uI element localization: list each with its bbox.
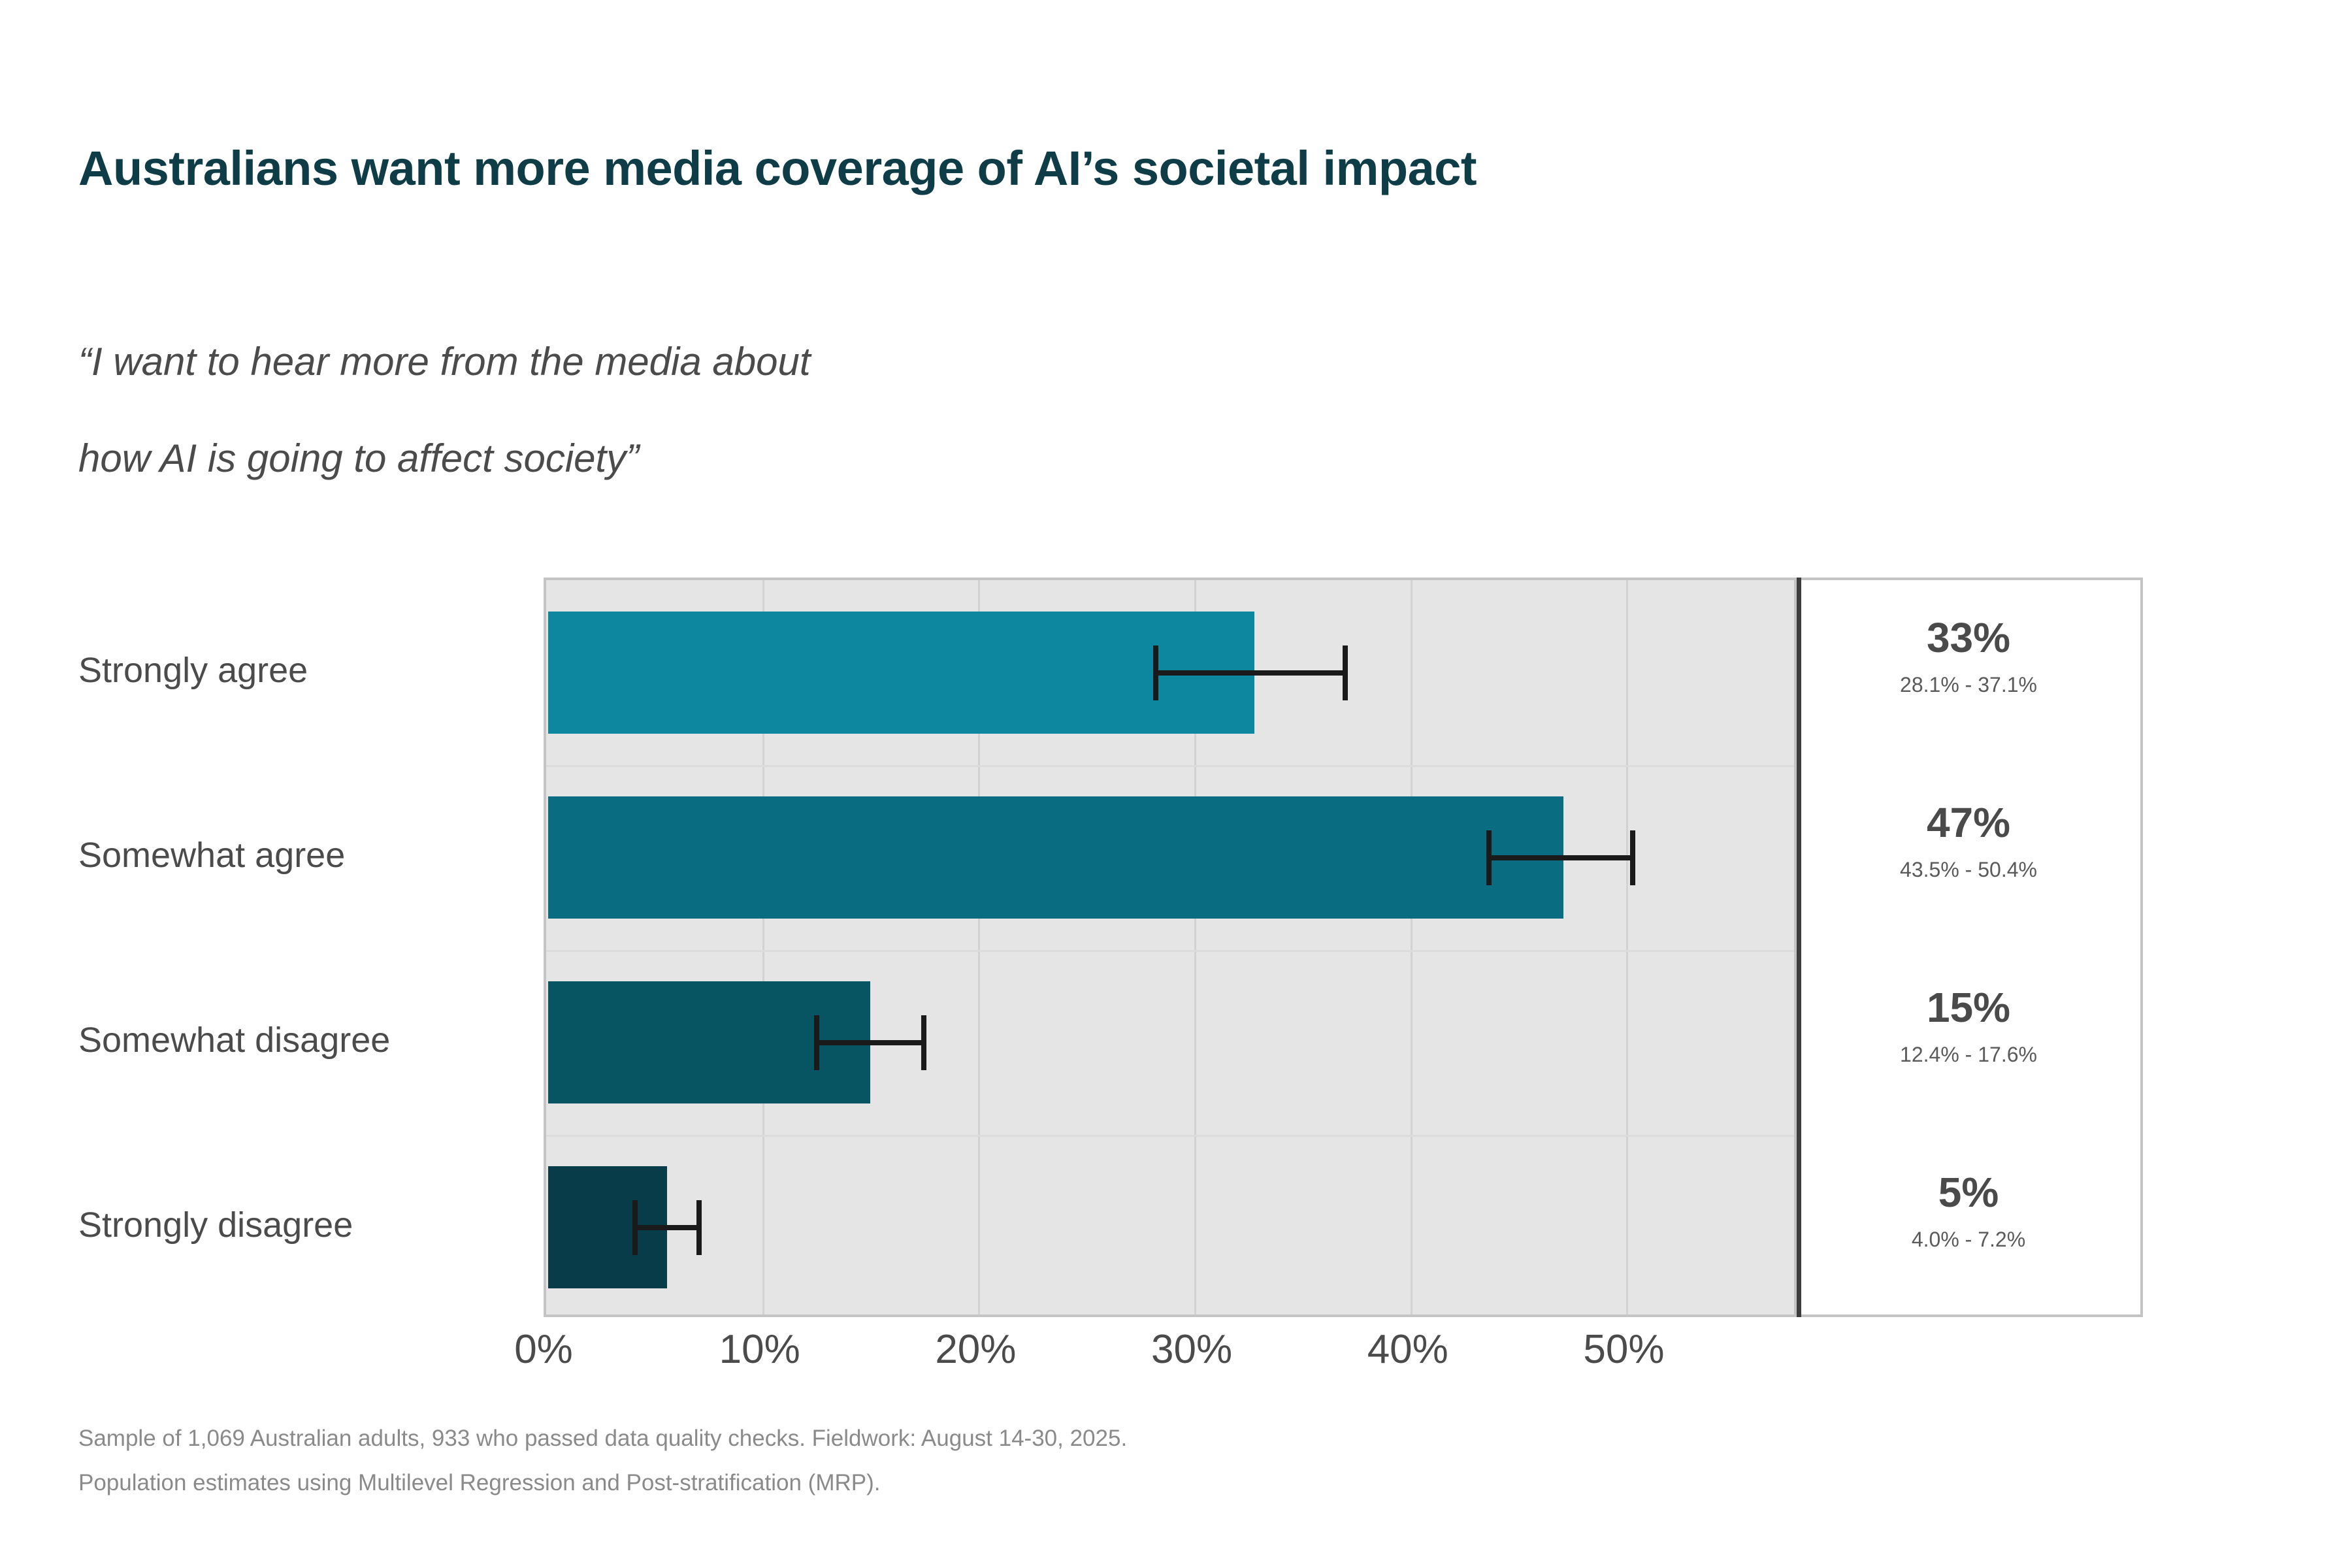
x-tick-40%: 40% (1367, 1326, 1448, 1373)
error-bar-cap-high (921, 1015, 926, 1070)
error-bar-line (1153, 670, 1348, 676)
annotation-confidence-interval: 28.1% - 37.1% (1797, 674, 2140, 695)
annotation-strongly-agree: 33%28.1% - 37.1% (1797, 617, 2140, 695)
category-label-strongly-disagree: Strongly disagree (78, 1205, 353, 1245)
annotation-panel: 33%28.1% - 37.1%47%43.5% - 50.4%15%12.4%… (1797, 578, 2143, 1317)
bar-chart: 33%28.1% - 37.1%47%43.5% - 50.4%15%12.4%… (544, 578, 2143, 1317)
annotation-confidence-interval: 12.4% - 17.6% (1797, 1044, 2140, 1065)
annotation-somewhat-agree: 47%43.5% - 50.4% (1797, 802, 2140, 880)
x-tick-50%: 50% (1583, 1326, 1664, 1373)
footnote-line-1: Sample of 1,069 Australian adults, 933 w… (78, 1416, 1127, 1461)
x-tick-20%: 20% (935, 1326, 1016, 1373)
category-label-somewhat-agree: Somewhat agree (78, 835, 345, 875)
error-bar-cap-high (1630, 830, 1635, 885)
chart-footnote: Sample of 1,069 Australian adults, 933 w… (78, 1416, 1127, 1505)
error-bar-cap-low (632, 1200, 638, 1255)
row-separator (546, 765, 1794, 767)
error-bar-cap-low (1486, 830, 1492, 885)
annotation-percent: 5% (1797, 1171, 2140, 1213)
subtitle-line-2: how AI is going to affect society” (78, 410, 811, 507)
category-label-strongly-agree: Strongly agree (78, 650, 308, 691)
subtitle-line-1: “I want to hear more from the media abou… (78, 314, 811, 410)
x-tick-10%: 10% (719, 1326, 800, 1373)
annotation-confidence-interval: 4.0% - 7.2% (1797, 1229, 2140, 1250)
annotation-somewhat-disagree: 15%12.4% - 17.6% (1797, 987, 2140, 1065)
bar-somewhat-agree (548, 796, 1563, 919)
row-separator (546, 950, 1794, 952)
x-tick-30%: 30% (1151, 1326, 1232, 1373)
error-bar-cap-low (814, 1015, 819, 1070)
page-title: Australians want more media coverage of … (78, 140, 1477, 196)
panel-divider (1797, 578, 1801, 1317)
chart-page: Australians want more media coverage of … (0, 0, 2352, 1568)
category-label-somewhat-disagree: Somewhat disagree (78, 1020, 390, 1060)
error-bar-cap-high (696, 1200, 702, 1255)
annotation-strongly-disagree: 5%4.0% - 7.2% (1797, 1171, 2140, 1250)
bar-strongly-agree (548, 612, 1254, 734)
annotation-percent: 47% (1797, 802, 2140, 843)
error-bar-line (632, 1225, 702, 1230)
chart-subtitle-quote: “I want to hear more from the media abou… (78, 314, 811, 507)
plot-area (544, 578, 1797, 1317)
error-bar-line (1486, 855, 1635, 860)
gridline-40% (1411, 580, 1413, 1315)
annotation-percent: 15% (1797, 987, 2140, 1028)
error-bar-cap-low (1153, 645, 1158, 700)
gridline-50% (1626, 580, 1628, 1315)
annotation-percent: 33% (1797, 617, 2140, 659)
error-bar-cap-high (1343, 645, 1348, 700)
error-bar-line (814, 1040, 926, 1045)
annotation-confidence-interval: 43.5% - 50.4% (1797, 859, 2140, 880)
footnote-line-2: Population estimates using Multilevel Re… (78, 1461, 1127, 1505)
row-separator (546, 1135, 1794, 1137)
x-tick-0%: 0% (514, 1326, 573, 1373)
